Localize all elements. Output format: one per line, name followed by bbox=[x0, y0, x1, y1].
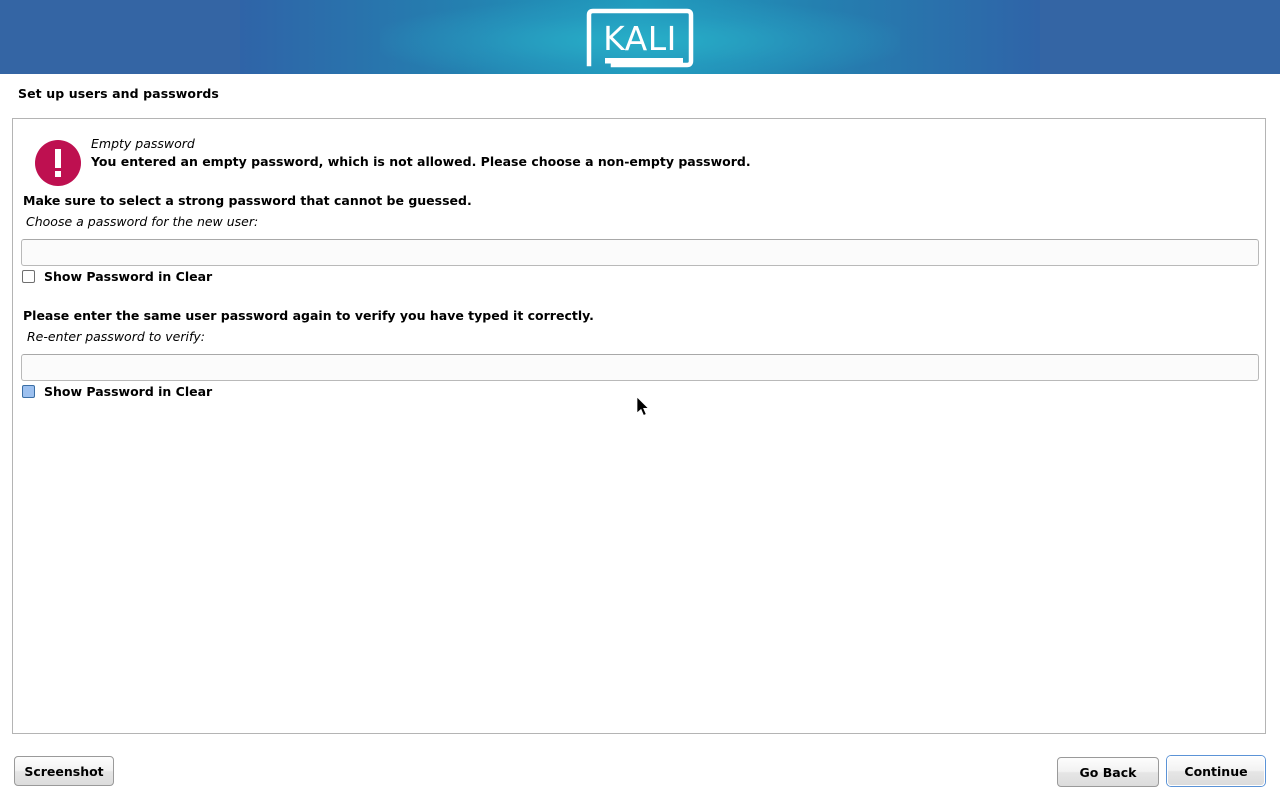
error-title: Empty password bbox=[91, 136, 195, 151]
svg-text:KALI: KALI bbox=[603, 19, 677, 58]
error-exclamation-icon bbox=[35, 140, 81, 186]
show-password-label-2: Show Password in Clear bbox=[44, 384, 212, 399]
verify-password-input[interactable] bbox=[21, 354, 1259, 381]
password-field-label: Choose a password for the new user: bbox=[26, 214, 258, 229]
exclamation-dot bbox=[55, 171, 61, 177]
screenshot-button[interactable]: Screenshot bbox=[14, 756, 114, 786]
verify-field-label: Re-enter password to verify: bbox=[27, 329, 205, 344]
password-input[interactable] bbox=[21, 239, 1259, 266]
show-password-label-1: Show Password in Clear bbox=[44, 269, 212, 284]
continue-button[interactable]: Continue bbox=[1167, 756, 1265, 786]
error-message: You entered an empty password, which is … bbox=[91, 154, 751, 169]
verify-heading-text: Please enter the same user password agai… bbox=[23, 308, 594, 323]
main-content-panel: Empty password You entered an empty pass… bbox=[12, 118, 1266, 734]
show-password-row-1[interactable]: Show Password in Clear bbox=[22, 269, 212, 284]
installer-banner: KALI bbox=[0, 0, 1280, 74]
password-advice-text: Make sure to select a strong password th… bbox=[23, 193, 472, 208]
page-title: Set up users and passwords bbox=[18, 86, 219, 101]
show-password-checkbox-1[interactable] bbox=[22, 270, 35, 283]
show-password-row-2[interactable]: Show Password in Clear bbox=[22, 384, 212, 399]
go-back-button[interactable]: Go Back bbox=[1057, 757, 1159, 787]
kali-logo-icon: KALI bbox=[583, 8, 697, 68]
exclamation-bar bbox=[55, 149, 61, 168]
show-password-checkbox-2[interactable] bbox=[22, 385, 35, 398]
